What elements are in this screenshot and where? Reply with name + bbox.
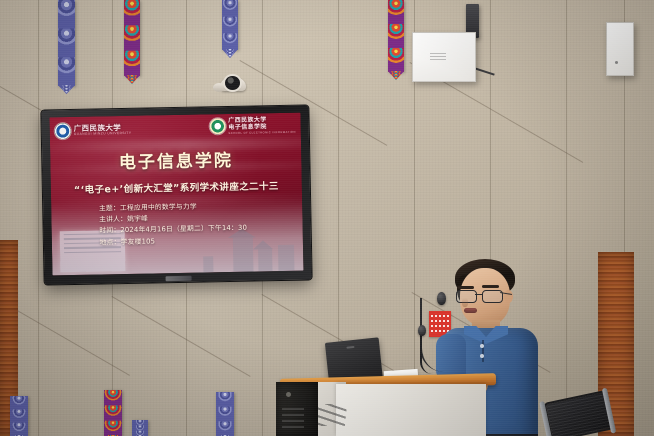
microphone-head — [437, 292, 446, 305]
ethnic-banner-blue — [58, 0, 75, 86]
ethnic-banner-blue — [10, 396, 28, 436]
glasses-bridge — [475, 294, 482, 295]
ethnic-banner-red — [124, 0, 140, 76]
rack-knob-icon[interactable] — [286, 392, 291, 397]
nose — [462, 298, 468, 307]
microphone-head — [418, 325, 426, 336]
slide-logo-school: 广西民族大学 电子信息学院 SCHOOL OF ELECTRONIC INFOR… — [209, 117, 296, 136]
speaker-face — [607, 23, 633, 75]
ethnic-banner-blue — [222, 0, 238, 50]
microphone-gooseneck — [420, 330, 432, 374]
school-name-en: SCHOOL OF ELECTRONIC INFORMATION — [228, 130, 295, 134]
university-name-en: GUANGXI MINZU UNIVERSITY — [74, 132, 132, 137]
building-roof — [253, 240, 273, 249]
building-body — [258, 249, 272, 271]
slide-details: 主题：工程应用中的数学与力学 主讲人：姚宇峰 时间：2024年4月16日（星期二… — [99, 201, 248, 249]
speaker-grille — [430, 52, 446, 60]
display-brand-plate — [165, 276, 191, 281]
eyebrow-right — [482, 285, 499, 288]
auditorium-photo: 广西民族大学 GUANGXI MINZU UNIVERSITY 广西民族大学 电… — [0, 0, 654, 436]
mouth — [464, 308, 477, 313]
wall-seam — [38, 0, 39, 436]
ethnic-banner-red — [104, 390, 122, 436]
university-emblem-icon — [55, 123, 71, 139]
school-emblem-icon — [209, 118, 225, 134]
presentation-slide: 广西民族大学 GUANGXI MINZU UNIVERSITY 广西民族大学 电… — [49, 113, 303, 276]
slide-subtitle: “‘电子e+’创新大汇堂”系列学术讲座之二十三 — [51, 177, 302, 196]
dome-security-camera — [220, 72, 248, 96]
ethnic-banner-blue — [132, 420, 148, 436]
slide-logo-university: 广西民族大学 GUANGXI MINZU UNIVERSITY — [55, 122, 132, 139]
wall-speaker-right — [606, 22, 634, 76]
shirt-button — [480, 354, 484, 358]
equipment-rack — [276, 382, 318, 436]
camera-lens-icon — [225, 76, 240, 90]
ethnic-banner-red — [388, 0, 404, 72]
wall-speaker-left — [412, 32, 476, 82]
lectern-front-panel — [336, 384, 486, 436]
slide-title: 电子信息学院 — [50, 144, 301, 174]
ethnic-banner-blue — [216, 392, 234, 436]
flat-panel-display[interactable]: 广西民族大学 GUANGXI MINZU UNIVERSITY 广西民族大学 电… — [41, 105, 311, 284]
shirt-button — [480, 344, 484, 348]
building-body — [203, 256, 213, 272]
speaker-led-icon — [615, 61, 618, 64]
building-body — [278, 245, 294, 271]
eyebrow-left — [457, 286, 474, 289]
camera-mount-arm — [213, 83, 225, 92]
wall-seam — [566, 0, 567, 436]
